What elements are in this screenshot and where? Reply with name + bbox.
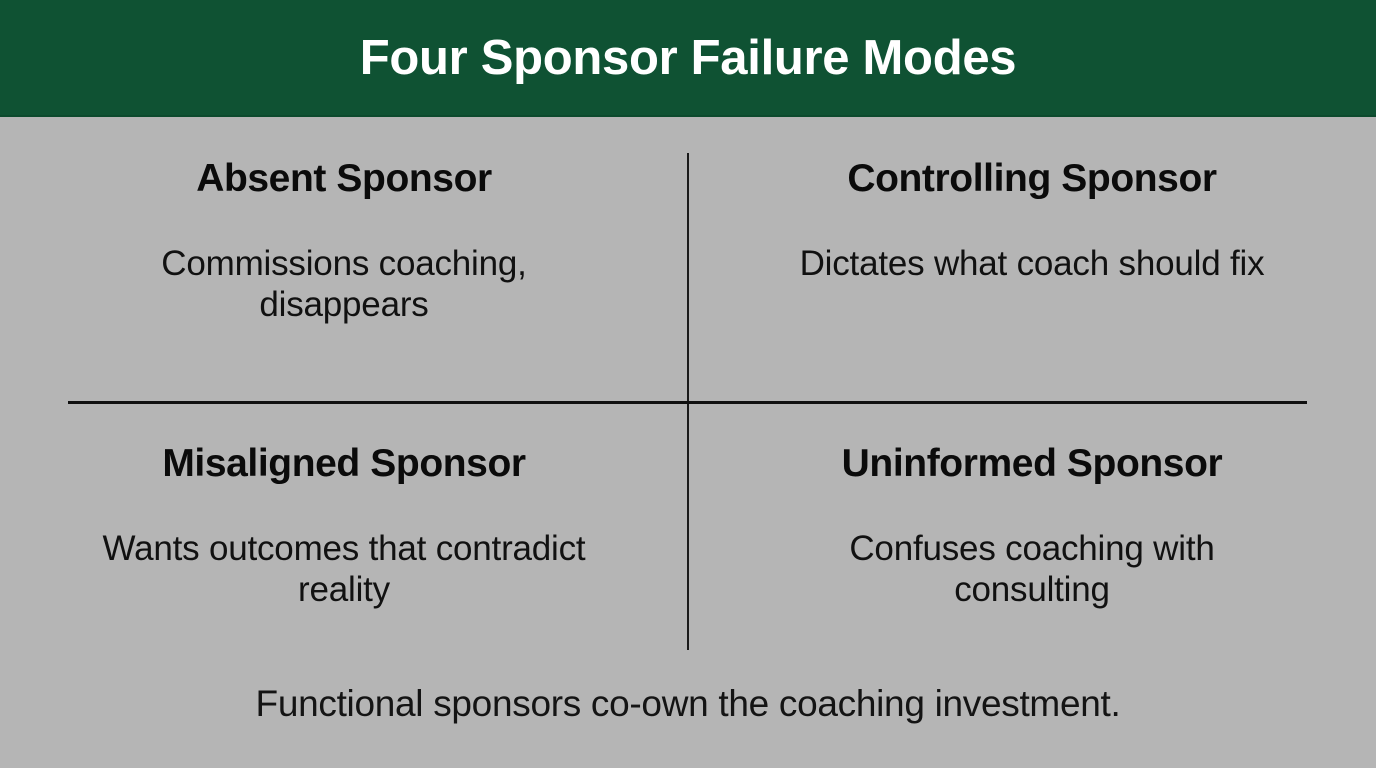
header-band: Four Sponsor Failure Modes (0, 0, 1376, 117)
quadrant-body: Dictates what coach should fix (800, 244, 1265, 285)
quadrant-heading: Misaligned Sponsor (162, 444, 525, 485)
quadrant-uninformed-sponsor: Uninformed Sponsor Confuses coaching wit… (688, 402, 1376, 662)
quadrant-misaligned-sponsor: Misaligned Sponsor Wants outcomes that c… (0, 402, 688, 662)
slide-canvas: Four Sponsor Failure Modes Absent Sponso… (0, 0, 1376, 768)
quadrant-absent-sponsor: Absent Sponsor Commissions coaching, dis… (0, 117, 688, 402)
quadrant-heading: Absent Sponsor (196, 159, 492, 200)
quadrant-body: Commissions coaching, disappears (84, 244, 604, 326)
quadrant-heading: Controlling Sponsor (847, 159, 1216, 200)
quadrant-controlling-sponsor: Controlling Sponsor Dictates what coach … (688, 117, 1376, 402)
horizontal-divider (68, 401, 1307, 404)
quadrant-body: Wants outcomes that contradict reality (84, 529, 604, 611)
quadrant-body: Confuses coaching with consulting (772, 529, 1292, 611)
page-title: Four Sponsor Failure Modes (360, 34, 1016, 83)
footer-note: Functional sponsors co-own the coaching … (0, 684, 1376, 725)
quadrant-heading: Uninformed Sponsor (842, 444, 1223, 485)
